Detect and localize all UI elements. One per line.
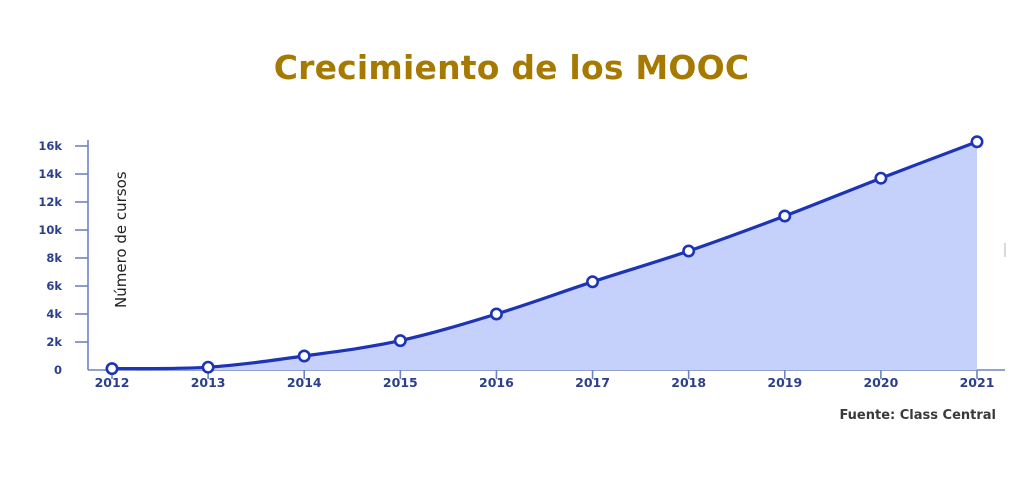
- x-tick-label: 2014: [287, 375, 322, 390]
- source-attribution: Fuente: Class Central: [839, 408, 996, 423]
- x-tick-label: 2017: [575, 375, 610, 390]
- right-edge-artifact: [1004, 243, 1006, 257]
- x-tick-label: 2019: [767, 375, 802, 390]
- chart-container: Crecimiento de los MOOC 02k4k6k8k10k12k1…: [0, 0, 1023, 479]
- x-tick-label: 2021: [960, 375, 995, 390]
- x-tick-label: 2015: [383, 375, 418, 390]
- x-tick-label: 2016: [479, 375, 514, 390]
- x-tick-label: 2012: [95, 375, 130, 390]
- x-tick-label: 2020: [863, 375, 898, 390]
- x-tick-label: 2018: [671, 375, 706, 390]
- x-tick-label: 2013: [191, 375, 226, 390]
- y-axis-title: Número de cursos: [112, 168, 130, 308]
